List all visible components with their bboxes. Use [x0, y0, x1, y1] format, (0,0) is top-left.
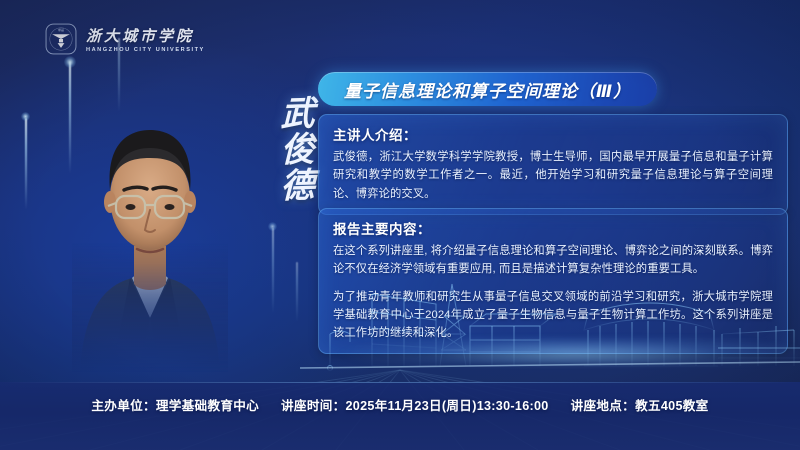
- talk-content-paragraph-2: 为了推动青年教师和研究生从事量子信息交叉领域的前沿学习和研究，浙大城市学院理学基…: [333, 288, 773, 343]
- footer-organizer: 主办单位：理学基础教育中心: [91, 395, 259, 414]
- particle-glow-icon: [268, 222, 277, 231]
- horizon-glow: [300, 338, 800, 364]
- talk-content-body: 在这个系列讲座里, 将介绍量子信息理论和算子空间理论、博弈论之间的深刻联系。博弈…: [333, 242, 773, 342]
- light-streak-icon: [296, 262, 298, 322]
- university-name-en: HANGZHOU CITY UNIVERSITY: [86, 47, 205, 53]
- talk-content-card: 报告主要内容： 在这个系列讲座里, 将介绍量子信息理论和算子空间理论、博弈论之间…: [318, 208, 788, 354]
- university-crest-icon: 求是: [44, 22, 78, 56]
- talk-content-paragraph-1: 在这个系列讲座里, 将介绍量子信息理论和算子空间理论、博弈论之间的深刻联系。博弈…: [333, 242, 773, 279]
- particle-glow-icon: [64, 56, 76, 68]
- footer-time: 讲座时间：2025年11月23日(周日)13:30-16:00: [281, 395, 549, 414]
- speaker-intro-paragraph: 武俊德，浙江大学数学科学学院教授，博士生导师，国内最早开展量子信息和量子计算研究…: [333, 148, 773, 203]
- light-streak-icon: [69, 62, 71, 174]
- university-name-cn: 浙大城市学院: [86, 25, 205, 46]
- speaker-name-calligraphy: 武俊德: [230, 95, 310, 205]
- speaker-intro-body: 武俊德，浙江大学数学科学学院教授，博士生导师，国内最早开展量子信息和量子计算研究…: [333, 148, 773, 203]
- speaker-photo: [72, 86, 228, 372]
- speaker-intro-card: 主讲人介绍： 武俊德，浙江大学数学科学学院教授，博士生导师，国内最早开展量子信息…: [318, 114, 788, 215]
- talk-content-heading: 报告主要内容：: [333, 218, 773, 238]
- university-logo-text: 浙大城市学院 HANGZHOU CITY UNIVERSITY: [86, 25, 205, 53]
- speaker-intro-heading: 主讲人介绍：: [333, 124, 773, 144]
- poster-canvas: 求是 浙大城市学院 HANGZHOU CITY UNIVERSITY: [0, 0, 800, 450]
- lecture-title-text: 量子信息理论和算子空间理论（Ⅲ）: [344, 77, 631, 102]
- lecture-title-banner: 量子信息理论和算子空间理论（Ⅲ）: [318, 72, 657, 106]
- footer-bar: 主办单位：理学基础教育中心 讲座时间：2025年11月23日(周日)13:30-…: [0, 382, 800, 450]
- particle-glow-icon: [21, 112, 30, 121]
- speaker-photo-image: [72, 86, 228, 372]
- svg-text:求是: 求是: [58, 27, 64, 32]
- footer-location: 讲座地点：教五405教室: [571, 395, 709, 414]
- speaker-portrait-illustration: [72, 86, 228, 372]
- footer-info-row: 主办单位：理学基础教育中心 讲座时间：2025年11月23日(周日)13:30-…: [91, 395, 708, 414]
- university-logo: 求是 浙大城市学院 HANGZHOU CITY UNIVERSITY: [44, 22, 205, 56]
- light-streak-icon: [25, 118, 27, 210]
- light-streak-icon: [272, 228, 274, 314]
